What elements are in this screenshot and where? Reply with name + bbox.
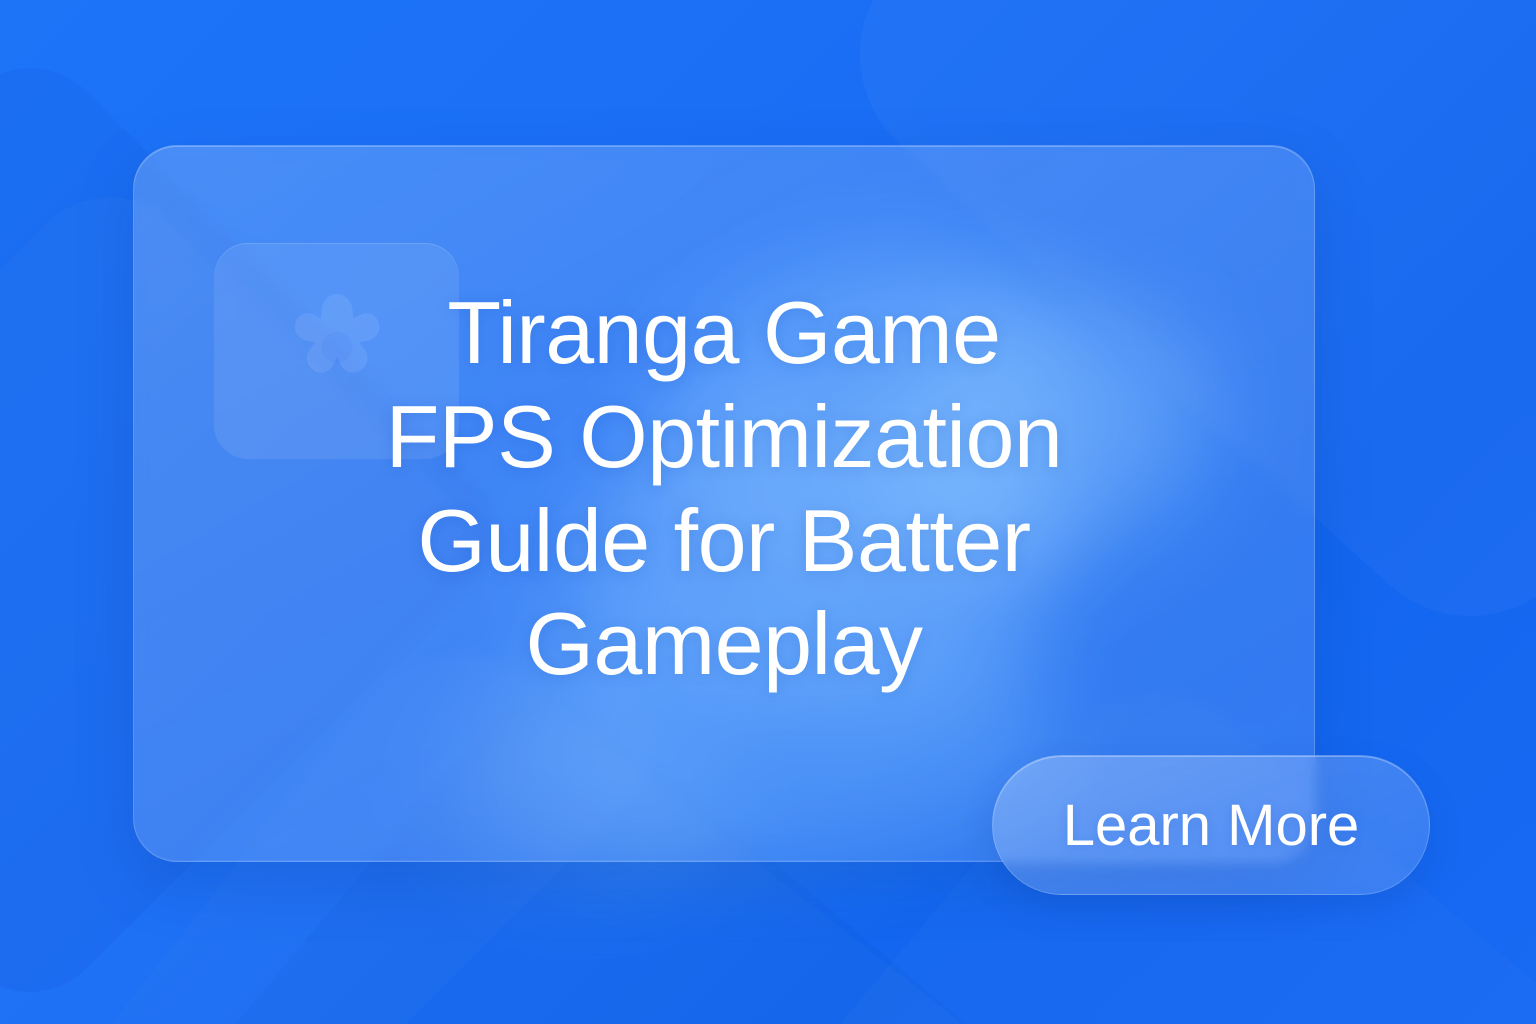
headline-line-4: Gameplay [224,592,1224,696]
learn-more-button[interactable]: Learn More [992,755,1430,895]
headline-line-3: Gulde for Batter [224,489,1224,593]
headline-line-1: Tiranga Game [224,281,1224,385]
promo-banner: Tiranga Game FPS Optimization Gulde for … [0,0,1536,1024]
headline-line-2: FPS Optimization [224,385,1224,489]
page-title: Tiranga Game FPS Optimization Gulde for … [134,281,1314,696]
